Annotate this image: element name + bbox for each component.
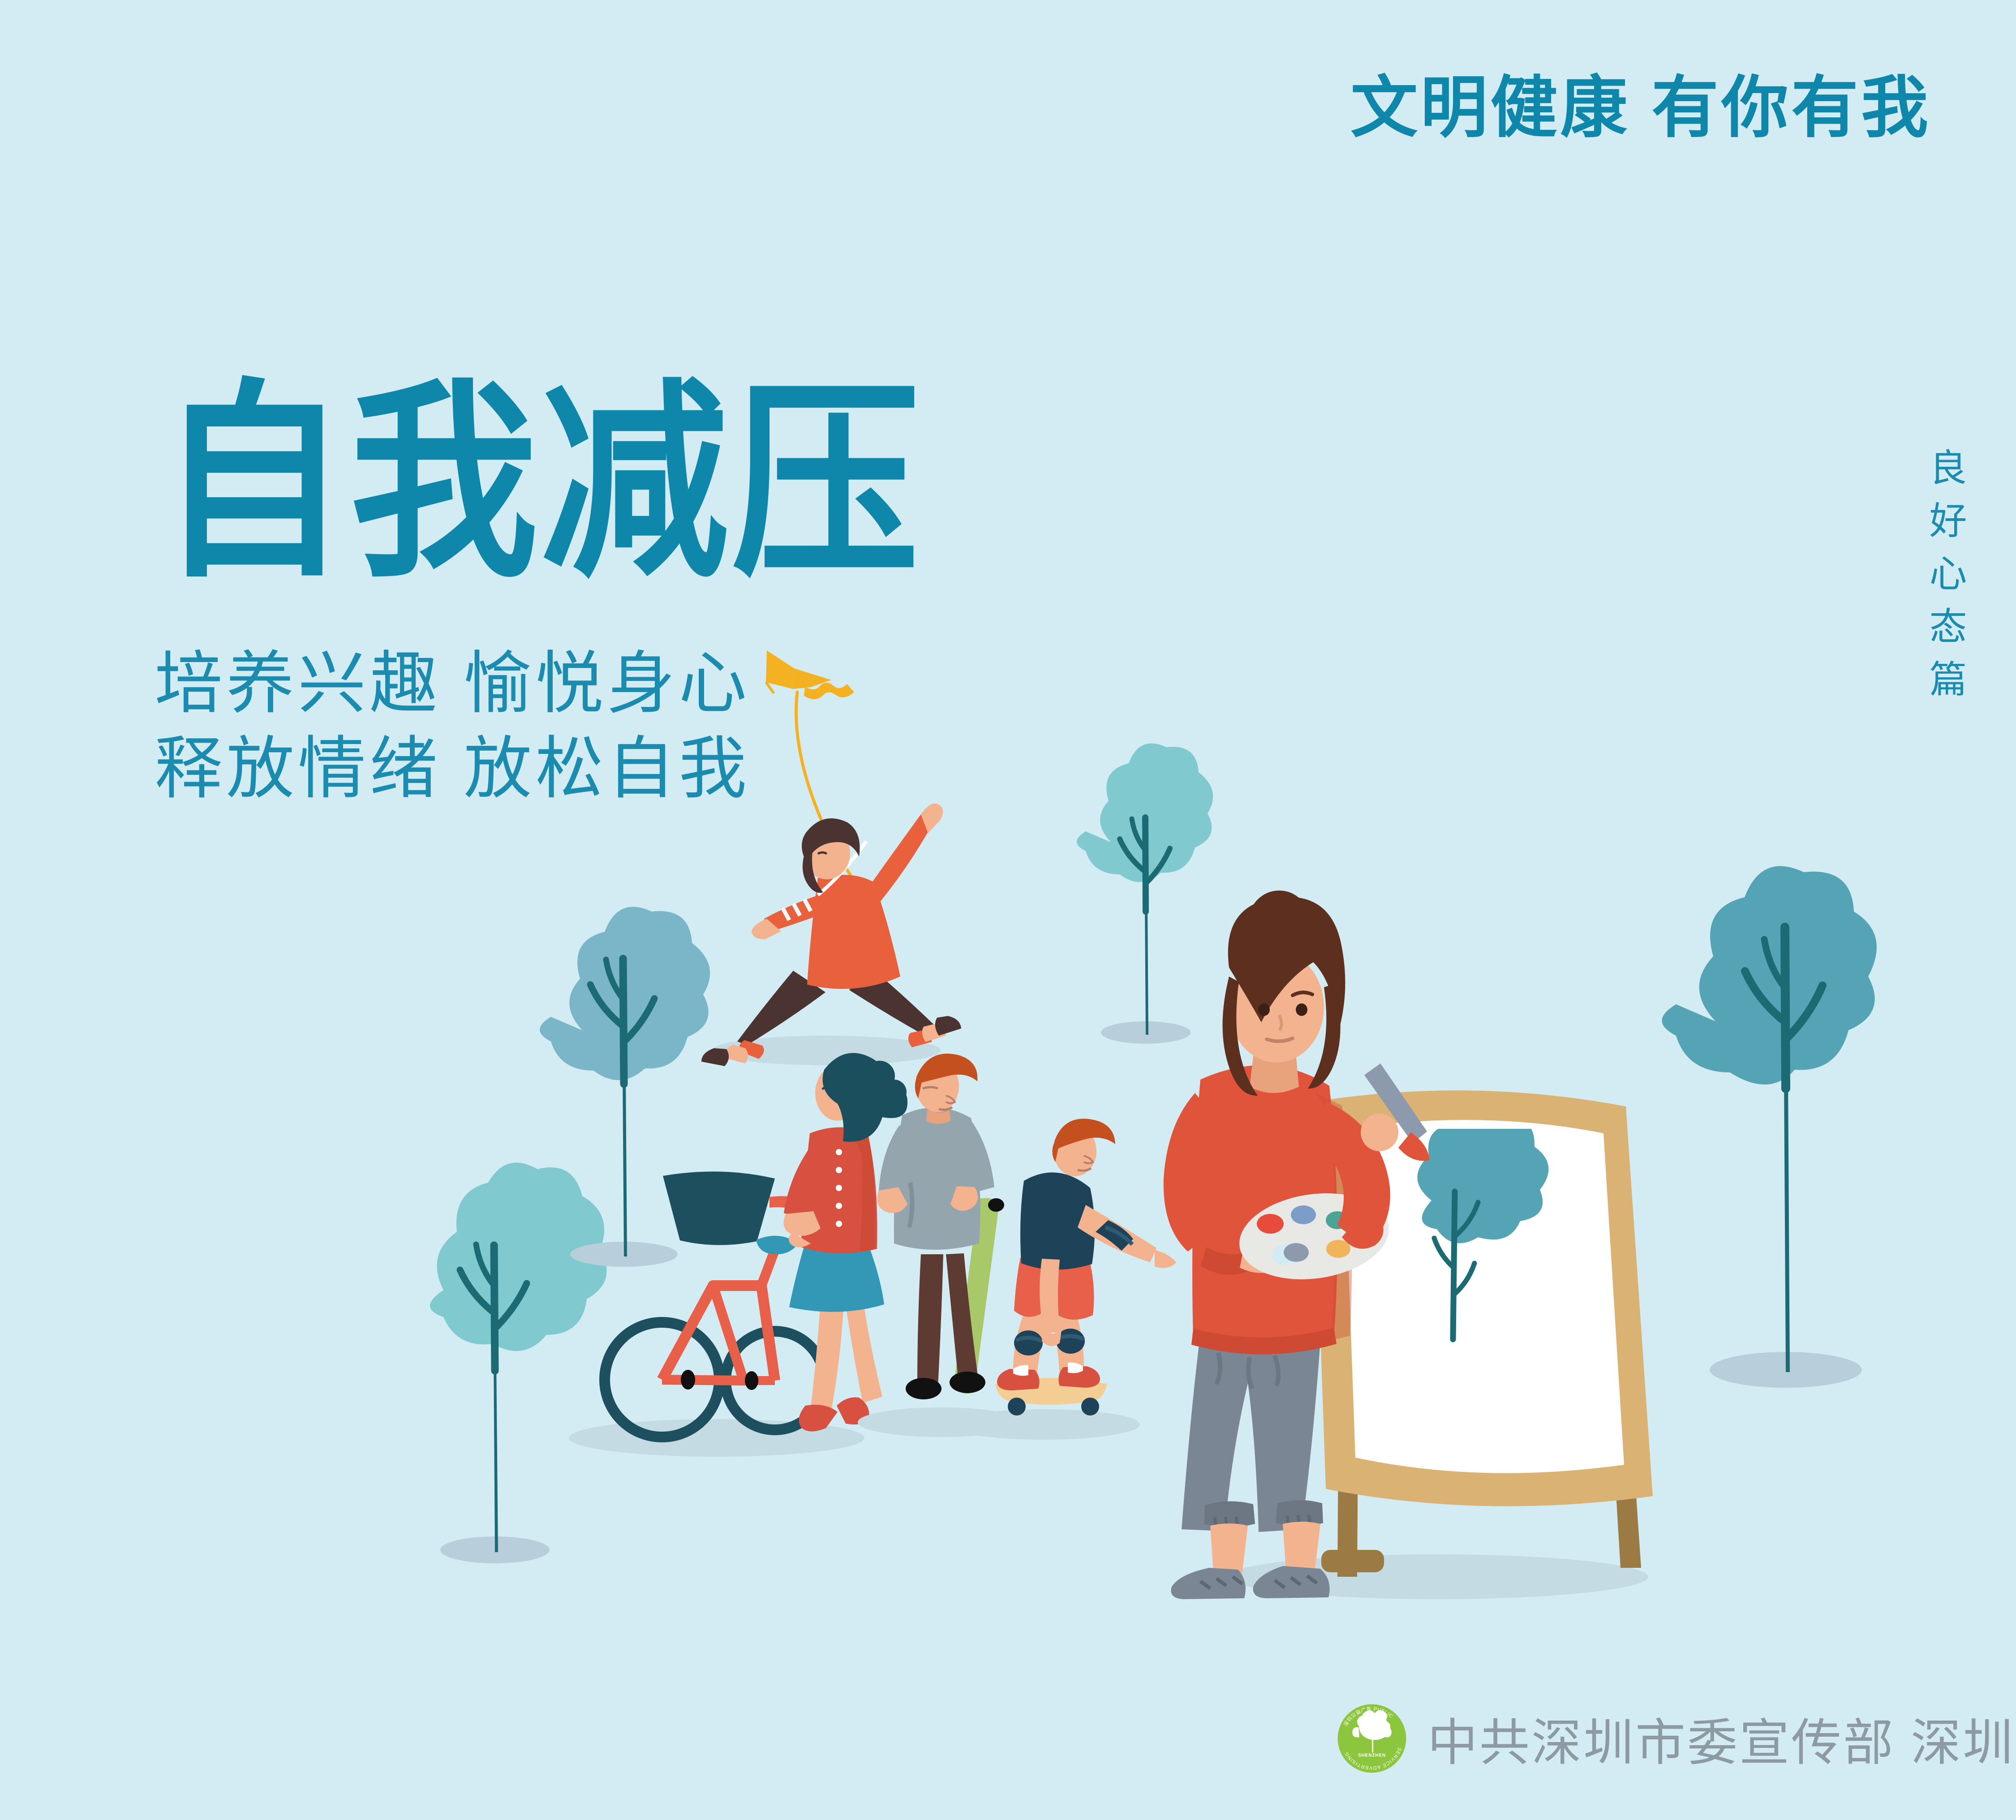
park-illustration [0, 0, 2016, 1820]
svg-text:SHENZHEN: SHENZHEN [1358, 1753, 1386, 1758]
footer: SHENZHEN 深圳公益广告 PUBLIC SERVICE ADVERTISI… [1337, 1702, 2016, 1775]
subtitle-line-1: 培养兴趣 愉悦身心 [155, 650, 750, 718]
page-title: 自我减压 [159, 379, 922, 589]
shenzhen-psa-logo-icon: SHENZHEN 深圳公益广告 PUBLIC SERVICE ADVERTISI… [1337, 1704, 1407, 1773]
tree-right [1662, 866, 1877, 1388]
footer-organizations: 中共深圳市委宣传部 深圳市文明办 [1427, 1702, 2016, 1775]
poster-canvas: 文明健康 有你有我 自我减压 培养兴趣 愉悦身心 释放情绪 放松自我 良好心态篇… [0, 0, 2016, 1820]
kite-icon [766, 650, 854, 699]
subtitle-line-2: 释放情绪 放松自我 [155, 735, 750, 803]
series-tag: 良好心态篇 [1923, 448, 1967, 712]
poster-slogan: 文明健康 有你有我 [1350, 74, 1931, 141]
tree-far-left [430, 1162, 607, 1563]
tree-mid [1077, 743, 1213, 1044]
